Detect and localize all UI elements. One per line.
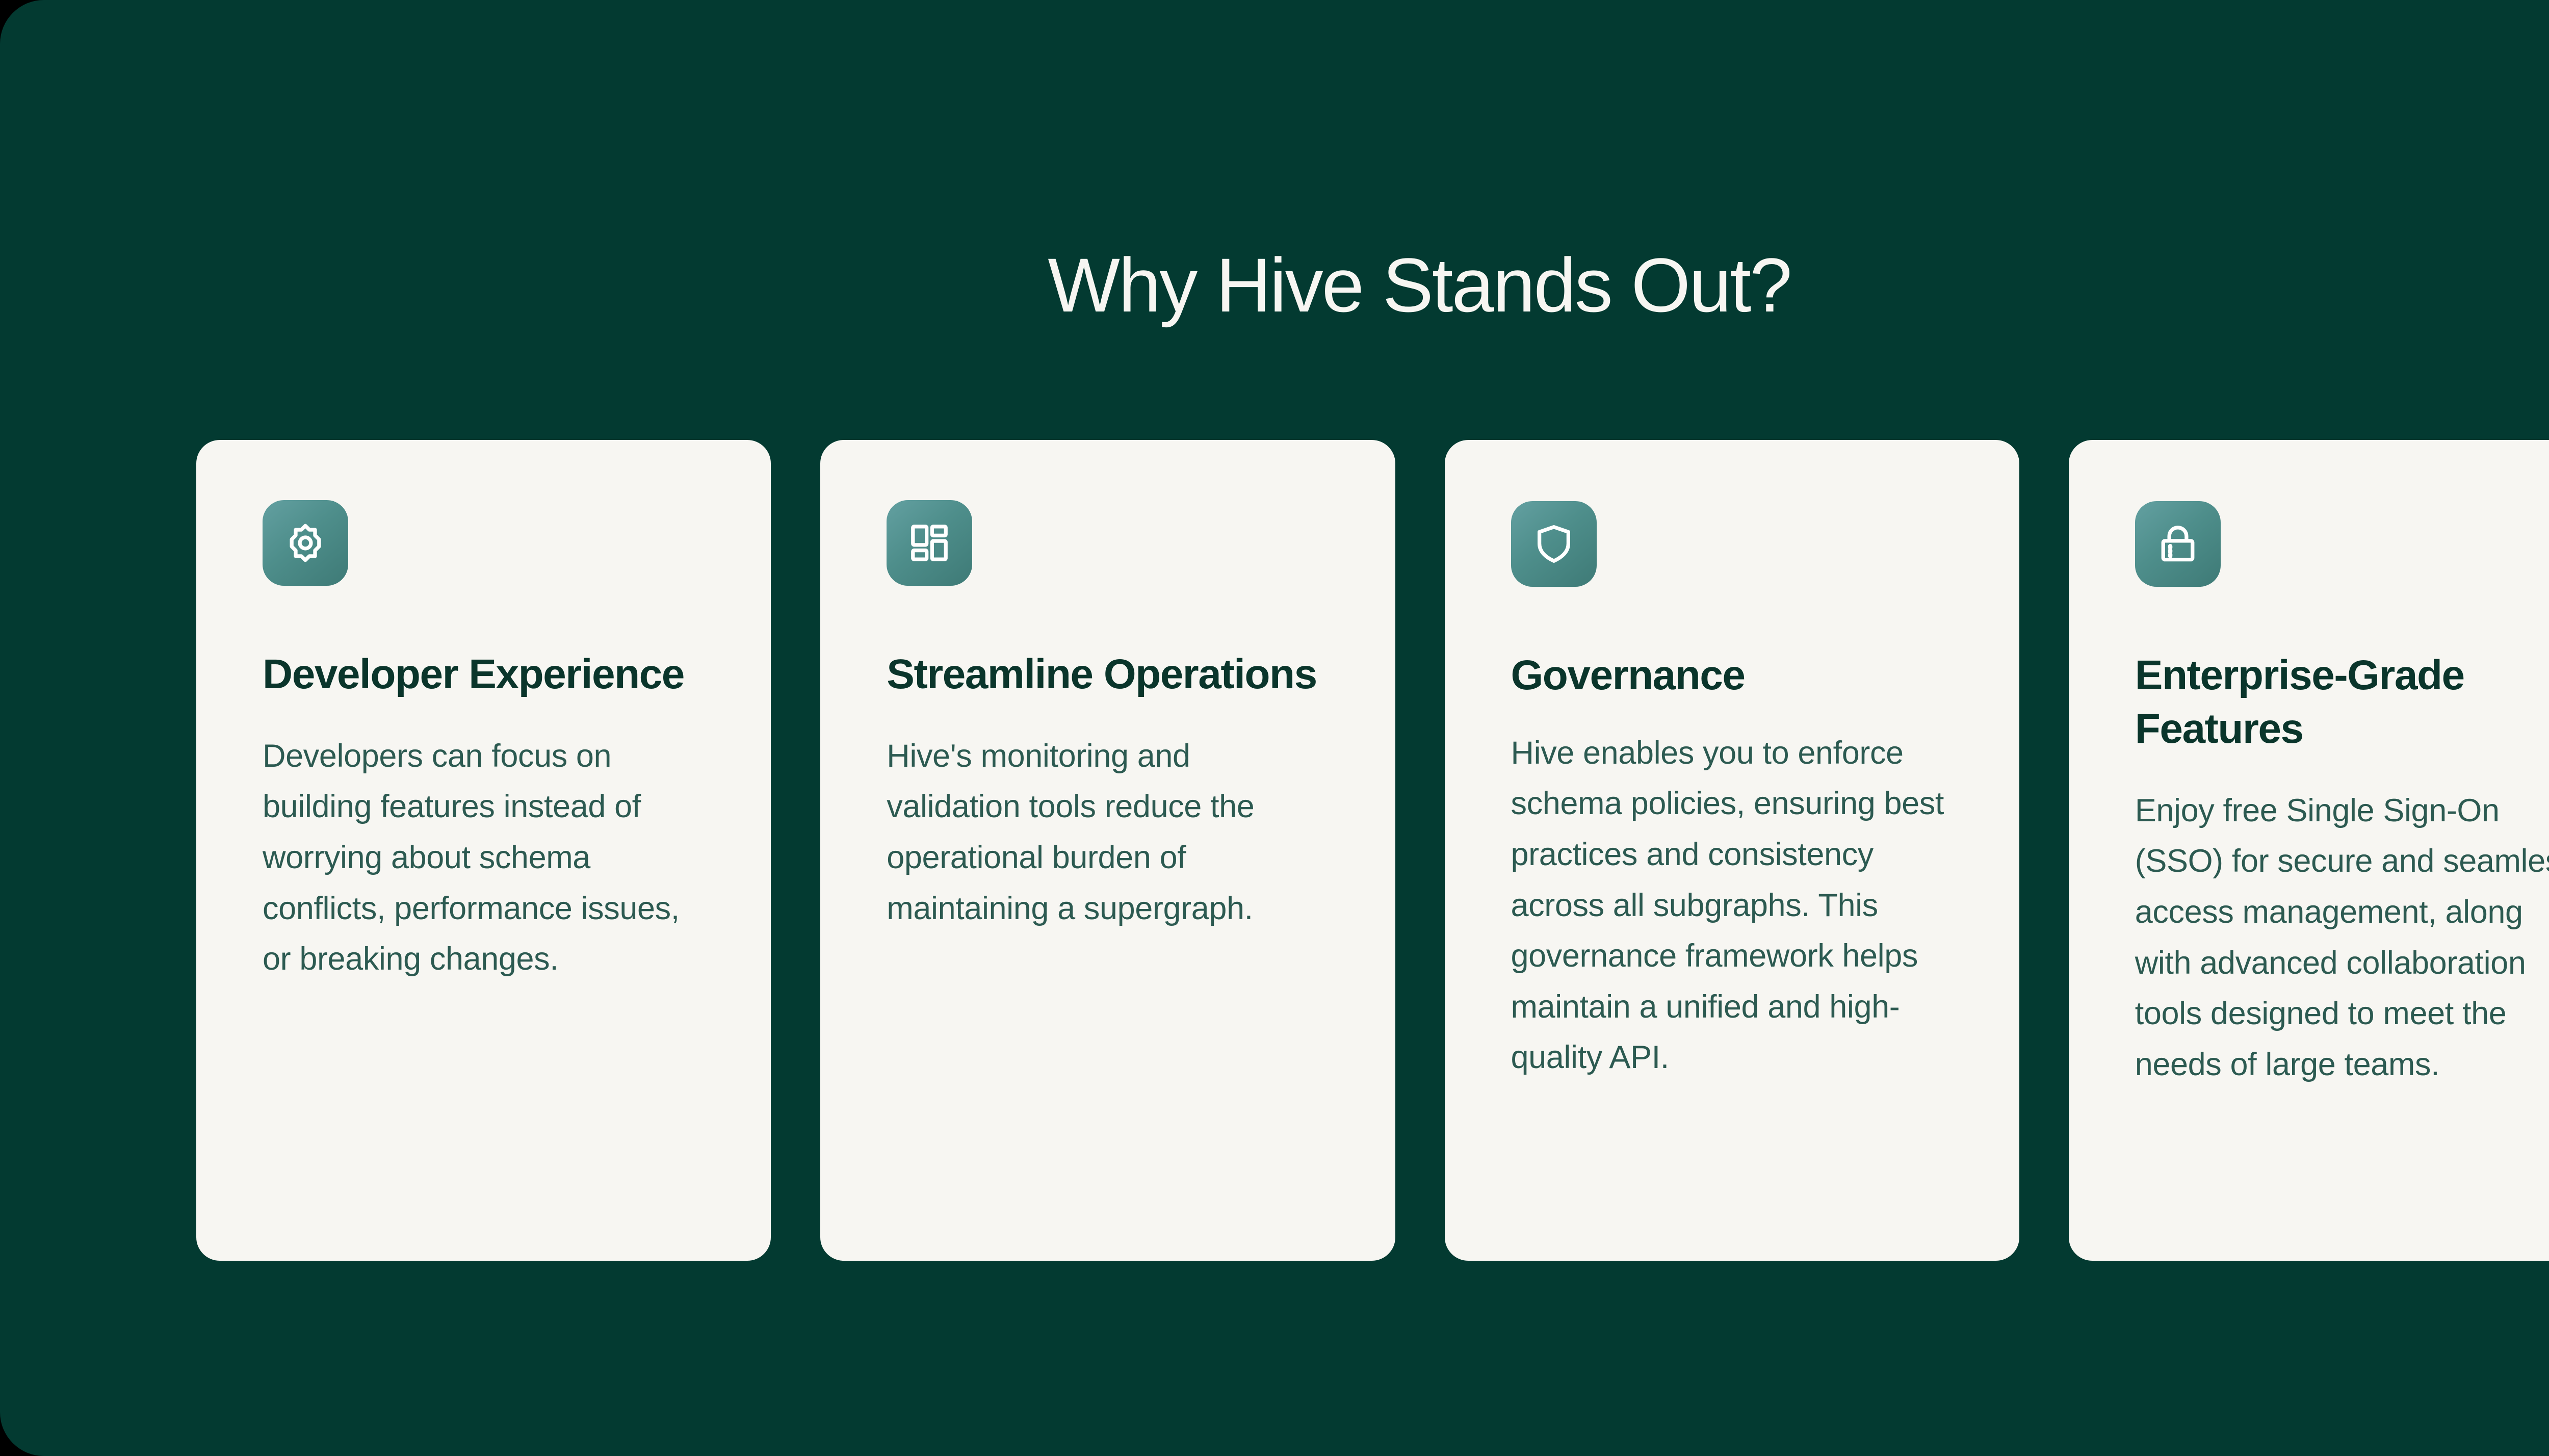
dashboard-grid-icon [887, 500, 972, 586]
feature-card-title: Enterprise-Grade Features [2135, 649, 2549, 756]
feature-card-title: Streamline Operations [887, 648, 1316, 701]
feature-card-body: Enjoy free Single Sign-On (SSO) for secu… [2135, 786, 2549, 1090]
feature-card-enterprise-grade-features[interactable]: Enterprise-Grade Features Enjoy free Sin… [2069, 440, 2549, 1261]
feature-card-body: Developers can focus on building feature… [263, 731, 705, 985]
page-title: Why Hive Stands Out? [0, 241, 2549, 329]
settings-gear-icon [263, 500, 348, 586]
feature-card-governance[interactable]: Governance Hive enables you to enforce s… [1445, 440, 2019, 1261]
feature-card-developer-experience[interactable]: Developer Experience Developers can focu… [196, 440, 771, 1261]
feature-card-title: Developer Experience [263, 648, 684, 701]
feature-card-body: Hive's monitoring and validation tools r… [887, 731, 1329, 934]
feature-card-body: Hive enables you to enforce schema polic… [1511, 728, 1953, 1083]
why-hive-stands-out-section: Why Hive Stands Out? Developer Experienc… [0, 0, 2549, 1456]
feature-cards-grid: Developer Experience Developers can focu… [196, 440, 2549, 1261]
shield-icon [1511, 501, 1597, 587]
feature-card-title: Governance [1511, 649, 1745, 703]
feature-card-streamline-operations[interactable]: Streamline Operations Hive's monitoring … [820, 440, 1395, 1261]
lock-icon [2135, 501, 2221, 587]
